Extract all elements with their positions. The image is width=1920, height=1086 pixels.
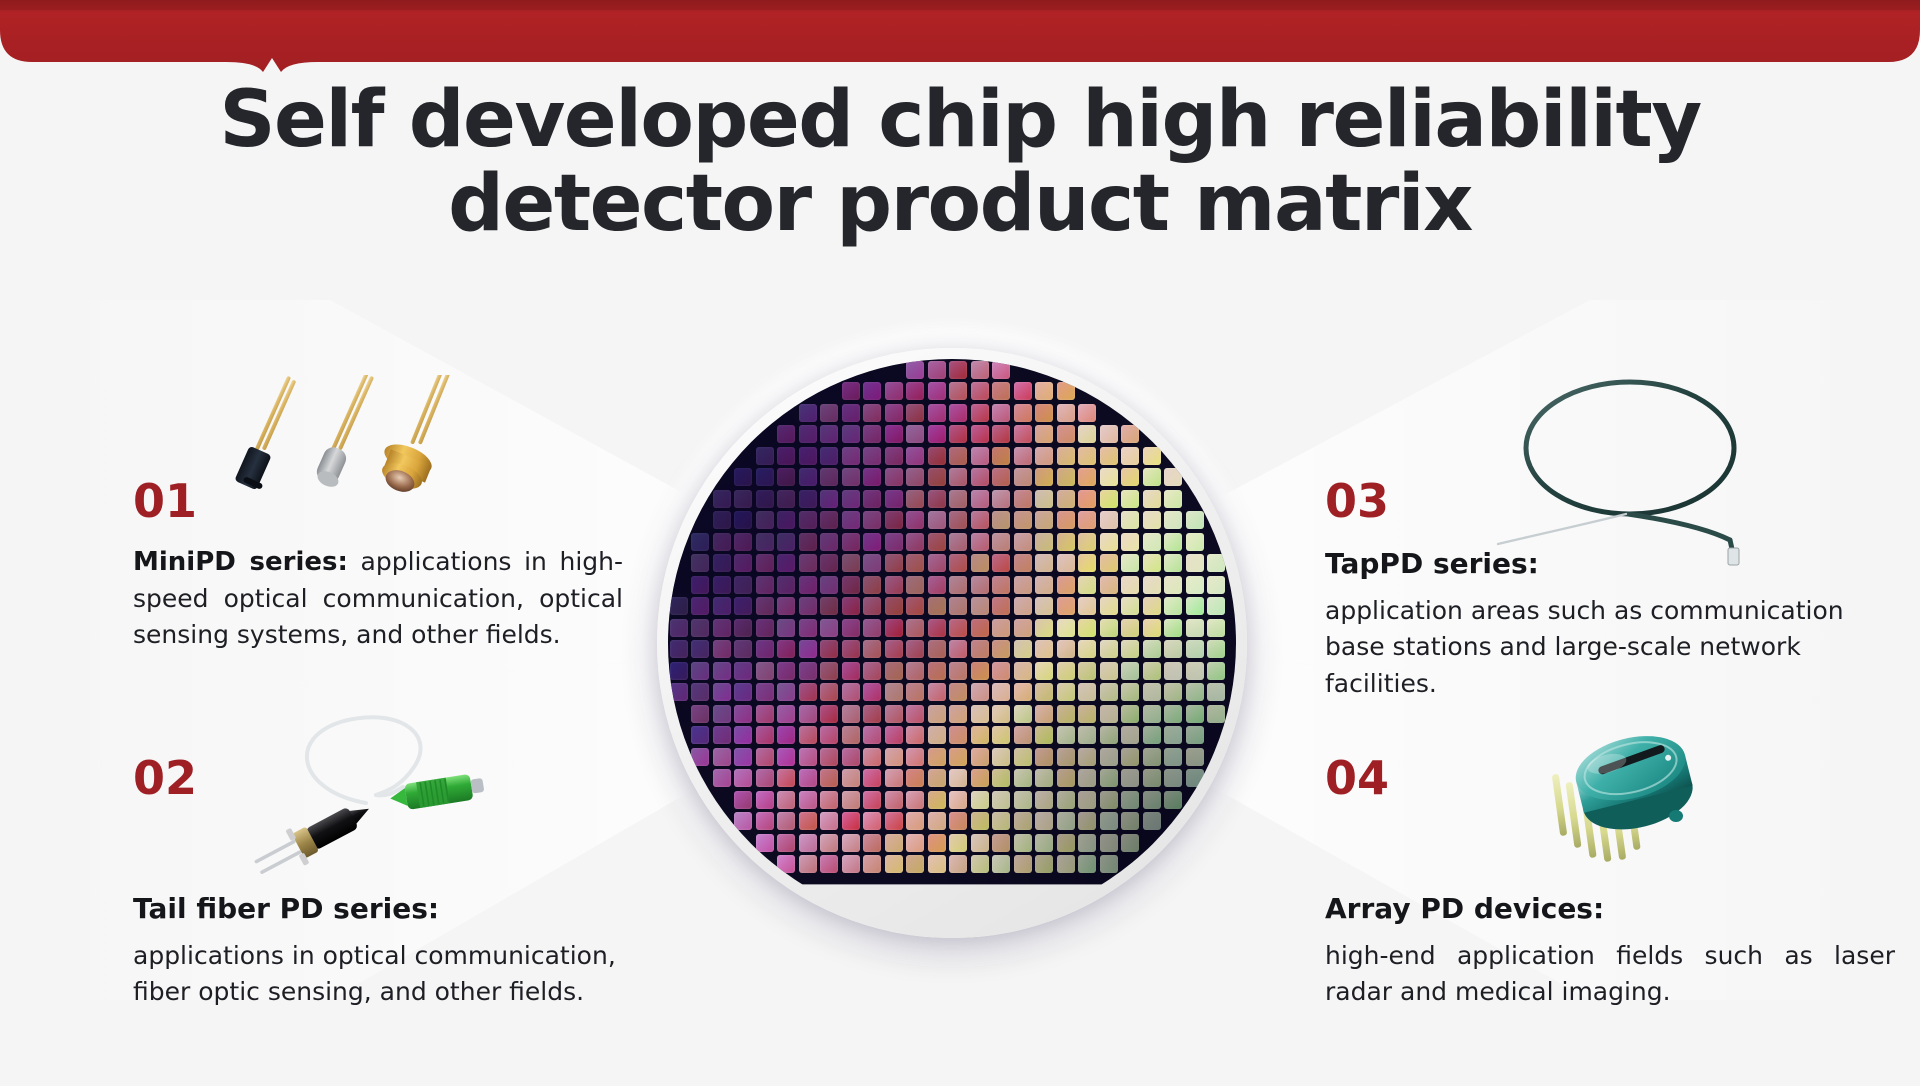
item-03-text: TapPD series: application areas such as … (1325, 544, 1895, 702)
item-04-array-pd: 04 Array PD devices: high-end applicatio… (1325, 755, 1895, 1011)
page-title-line1: Self developed chip high reliability (0, 78, 1920, 162)
minipd-device-dark (234, 376, 296, 491)
wafer-die-grid (668, 359, 1236, 927)
item-01-number: 01 (133, 478, 623, 524)
item-02-lead: Tail fiber PD series: (133, 889, 673, 930)
item-04-lead: Array PD devices: (1325, 889, 1895, 930)
item-02-number: 02 (133, 755, 673, 801)
item-04-number: 04 (1325, 755, 1895, 801)
page-title: Self developed chip high reliability det… (0, 78, 1920, 246)
item-02-body: applications in optical communication, f… (133, 941, 616, 1007)
item-03-tappd: 03 TapPD series: application areas such … (1325, 478, 1895, 702)
item-03-body: application areas such as communication … (1325, 596, 1844, 698)
item-03-number: 03 (1325, 478, 1895, 524)
item-04-text: Array PD devices: high-end application f… (1325, 889, 1895, 1011)
item-02-tail-fiber-pd: 02 Tail fiber PD series: applications in… (133, 755, 673, 1011)
page-title-line2: detector product matrix (0, 162, 1920, 246)
item-01-text: MiniPD series: applications in high-spee… (133, 544, 623, 653)
item-01-minipd: 01 MiniPD series: applications in high-s… (133, 478, 623, 653)
minipd-device-silver (314, 375, 374, 490)
item-01-lead: MiniPD series: (133, 547, 348, 577)
wafer-image (657, 348, 1247, 938)
item-04-body: high-end application fields such as lase… (1325, 941, 1895, 1007)
item-03-lead: TapPD series: (1325, 544, 1895, 585)
wafer-disc (668, 359, 1236, 927)
item-02-text: Tail fiber PD series: applications in op… (133, 889, 673, 1011)
